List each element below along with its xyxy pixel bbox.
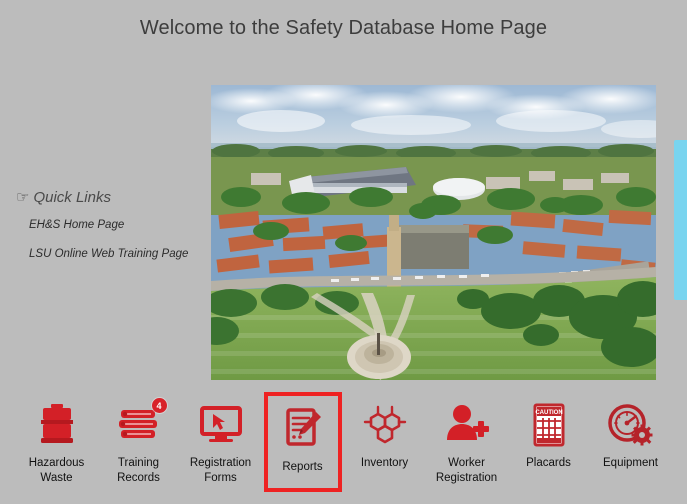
label-line1: Hazardous — [29, 457, 85, 469]
label-line2: Forms — [204, 472, 237, 484]
badge-training-records-count: 4 — [152, 398, 167, 413]
tile-label-training-records: Training Records — [117, 456, 160, 485]
tile-label-inventory: Inventory — [361, 456, 408, 471]
page-title: Welcome to the Safety Database Home Page — [0, 17, 687, 40]
tile-inventory[interactable]: Inventory — [346, 392, 424, 492]
pointing-hand-icon: ☞ — [16, 190, 29, 205]
tile-worker-registration[interactable]: Worker Registration — [428, 392, 506, 492]
tile-reports[interactable]: Reports — [264, 392, 342, 492]
caution-placard-icon: CAUTION — [527, 400, 571, 450]
label-line1: Registration — [190, 457, 251, 469]
tile-label-registration-forms: Registration Forms — [190, 456, 251, 485]
gauge-gear-icon — [606, 400, 656, 450]
tile-hazardous-waste[interactable]: Hazardous Waste — [18, 392, 96, 492]
label-line2: Records — [117, 472, 160, 484]
label-line1: Inventory — [361, 457, 408, 469]
label-line2: Waste — [40, 472, 72, 484]
label-line2: Registration — [436, 472, 497, 484]
campus-aerial-photo — [211, 85, 656, 380]
tile-placards[interactable]: CAUTION Placards — [510, 392, 588, 492]
campus-photo-illustration — [211, 85, 656, 380]
tile-label-equipment: Equipment — [603, 456, 658, 471]
document-pencil-icon — [280, 404, 326, 454]
quick-link-lsu-online-web-training-page[interactable]: LSU Online Web Training Page — [29, 248, 216, 260]
label-line1: Equipment — [603, 457, 658, 469]
label-line1: Worker — [448, 457, 485, 469]
tile-training-records[interactable]: 4 Training Records — [100, 392, 178, 492]
tile-registration-forms[interactable]: Registration Forms — [182, 392, 260, 492]
label-line1: Placards — [526, 457, 571, 469]
placard-caution-text: CAUTION — [535, 410, 562, 416]
person-plus-icon — [443, 400, 491, 450]
books-icon: 4 — [115, 400, 163, 450]
tile-label-worker-registration: Worker Registration — [436, 456, 497, 485]
module-icon-bar: Hazardous Waste 4 Training — [0, 392, 687, 504]
quick-links-header: ☞ Quick Links — [16, 189, 216, 206]
molecule-icon — [361, 400, 409, 450]
tile-label-hazardous-waste: Hazardous Waste — [29, 456, 85, 485]
label-line1: Reports — [282, 461, 322, 473]
quick-links-title: Quick Links — [33, 189, 111, 206]
monitor-cursor-icon — [197, 400, 245, 450]
tile-label-reports: Reports — [282, 460, 322, 475]
label-line1: Training — [118, 457, 159, 469]
quick-link-ehs-home-page[interactable]: EH&S Home Page — [29, 219, 216, 231]
feedback-tab[interactable] — [674, 140, 687, 300]
quick-links-section: ☞ Quick Links EH&S Home Page LSU Online … — [16, 189, 216, 260]
barrel-icon — [35, 400, 79, 450]
tile-label-placards: Placards — [526, 456, 571, 471]
tile-equipment[interactable]: Equipment — [592, 392, 670, 492]
